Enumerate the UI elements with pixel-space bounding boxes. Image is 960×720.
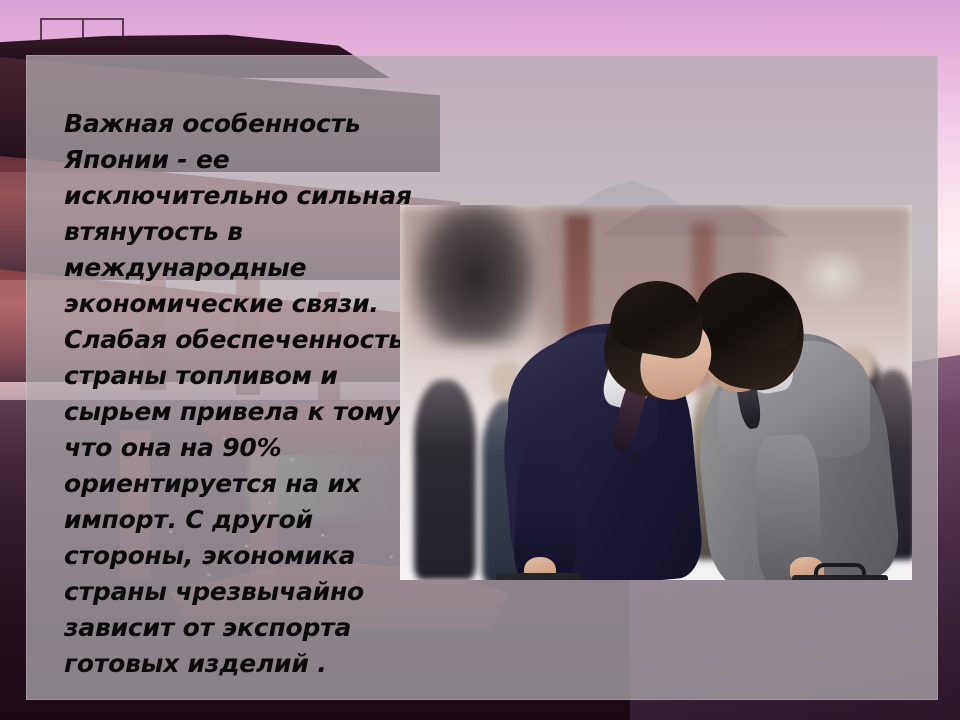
photo-crowd-figure	[414, 380, 476, 580]
text-line: страны чрезвычайно	[64, 574, 380, 610]
text-line: импорт. С другой	[64, 502, 380, 538]
briefcase-black	[792, 575, 888, 580]
text-line: что она на 90%	[64, 430, 380, 466]
text-line: зависит от экспорта	[64, 610, 380, 646]
text-line: ориентируется на их	[64, 466, 380, 502]
briefcase-navy	[496, 573, 582, 580]
photo-dark-foliage	[410, 205, 540, 345]
text-line: сырьем привела к тому,	[64, 394, 380, 430]
photo-lantern	[798, 245, 868, 305]
inset-photograph	[400, 205, 912, 580]
text-line: готовых изделий .	[64, 646, 380, 682]
text-line: втянутость в	[64, 214, 380, 250]
text-line: Слабая обеспеченность	[64, 322, 380, 358]
text-line: стороны, экономика	[64, 538, 380, 574]
text-line: исключительно сильная	[64, 178, 380, 214]
text-line: Японии - ее	[64, 142, 380, 178]
presentation-slide: Важная особенность Японии - ее исключите…	[0, 0, 960, 720]
slide-body-text: Важная особенность Японии - ее исключите…	[64, 106, 380, 682]
text-line: страны топливом и	[64, 358, 380, 394]
text-line: международные	[64, 250, 380, 286]
text-line: Важная особенность	[64, 106, 380, 142]
text-line: экономические связи.	[64, 286, 380, 322]
